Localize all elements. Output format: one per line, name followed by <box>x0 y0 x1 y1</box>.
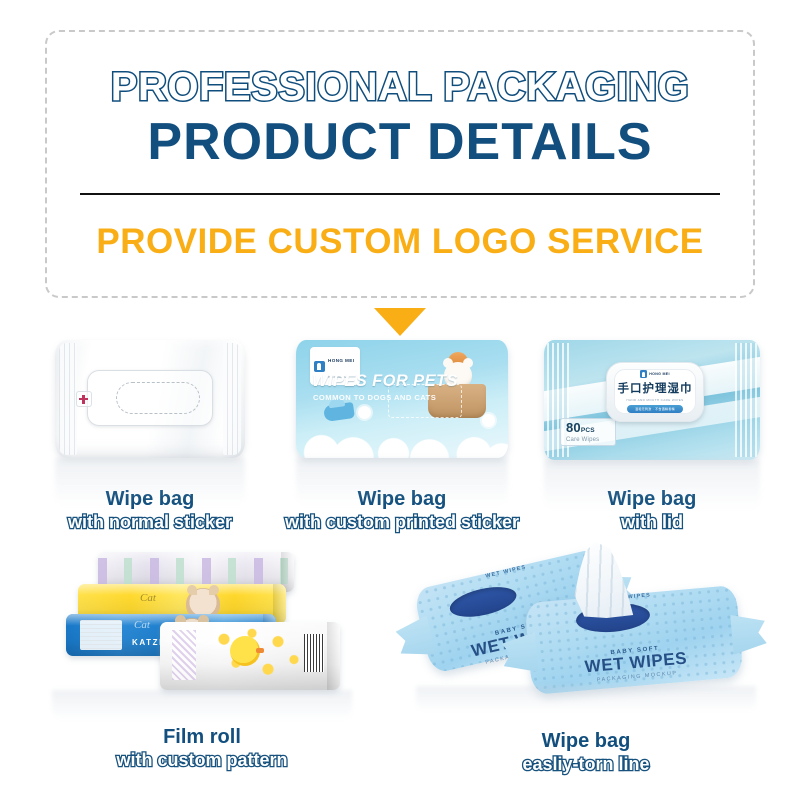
header-banner: PROFESSIONAL PACKAGING PRODUCT DETAILS P… <box>45 30 755 298</box>
pack-count-unit: PCS <box>581 427 595 434</box>
product-details-page: PROFESSIONAL PACKAGING PRODUCT DETAILS P… <box>0 0 800 800</box>
caption-main: Film roll <box>32 726 372 749</box>
barcode-icon <box>304 634 324 672</box>
caption-main: Wipe bag <box>400 730 772 753</box>
package-subhead: COMMON TO DOGS AND CATS <box>313 393 436 402</box>
film-roll-white-duck <box>160 622 340 690</box>
product-row-bottom: Cat Cat KATZE Film roll with c <box>0 548 800 768</box>
caption-sub: with lid <box>534 511 770 534</box>
brand-mark-icon <box>640 370 647 378</box>
pack-count-number: 80 <box>566 420 581 435</box>
product-image-wipe-bag-custom-printed-sticker: HONG MEI PACKAGING WIPES FOR PETS COMMON… <box>296 340 508 460</box>
package-headline: WIPES FOR PETS <box>312 372 458 391</box>
brand-name: HONG MEI <box>649 372 670 376</box>
lid-title-cn: 手口护理湿巾 <box>618 380 693 396</box>
lid-brand-logo: HONG MEI <box>640 370 670 378</box>
caption-sub: with normal sticker <box>32 511 268 534</box>
product-caption: Film roll with custom pattern <box>32 726 372 772</box>
product-image-wipe-bag-with-lid: 80PCS Care Wipes HONG MEI 手口护理湿巾 HAND AN… <box>544 340 760 462</box>
brand-mark-icon <box>314 361 325 372</box>
product-image-wet-wipes-mockup: WET WIPES BABY SOFT WET WIPES PACKAGING … <box>416 548 756 708</box>
caption-sub: with custom pattern <box>32 749 372 772</box>
caption-sub: easliy-torn line <box>400 753 772 776</box>
lid-tag: 温和无刺激 · 不含酒精香精 <box>627 405 683 412</box>
product-image-wipe-bag-normal-sticker <box>55 340 245 460</box>
header-divider <box>80 193 720 195</box>
pack-count-label: Care Wipes <box>566 437 615 443</box>
caption-sub: with custom printed sticker <box>282 511 522 534</box>
arrow-down-icon <box>374 308 426 336</box>
wet-wipes-bag-front: WET WIPES BABY SOFT WET WIPES PACKAGING … <box>524 585 743 695</box>
page-title: PRODUCT DETAILS <box>147 114 652 171</box>
header-subtitle: PROVIDE CUSTOM LOGO SERVICE <box>96 222 703 262</box>
product-card-wipe-bag-with-lid[interactable]: 80PCS Care Wipes HONG MEI 手口护理湿巾 HAND AN… <box>534 340 770 534</box>
product-card-wipe-bag-normal-sticker[interactable]: Wipe bag with normal sticker <box>32 340 268 534</box>
product-card-film-roll-custom-pattern[interactable]: Cat Cat KATZE Film roll with c <box>32 548 372 772</box>
lid-cap: HONG MEI 手口护理湿巾 HAND AND MOUTH CARE WIPE… <box>606 362 704 422</box>
pack-count-badge: 80PCS Care Wipes <box>560 418 616 446</box>
brand-name: HONG MEI <box>328 358 354 363</box>
product-card-wipe-bag-easily-torn-line[interactable]: WET WIPES BABY SOFT WET WIPES PACKAGING … <box>400 548 772 776</box>
product-image-film-roll: Cat Cat KATZE <box>52 548 352 708</box>
product-caption: Wipe bag easliy-torn line <box>400 730 772 776</box>
header-overline: PROFESSIONAL PACKAGING <box>111 66 689 108</box>
lid-subtitle-en: HAND AND MOUTH CARE WIPES <box>626 398 683 402</box>
roll-script-text: Cat <box>140 592 156 604</box>
product-card-wipe-bag-custom-printed-sticker[interactable]: HONG MEI PACKAGING WIPES FOR PETS COMMON… <box>282 340 522 534</box>
roll-script-text: Cat <box>134 619 150 631</box>
product-row-top: Wipe bag with normal sticker <box>0 340 800 540</box>
